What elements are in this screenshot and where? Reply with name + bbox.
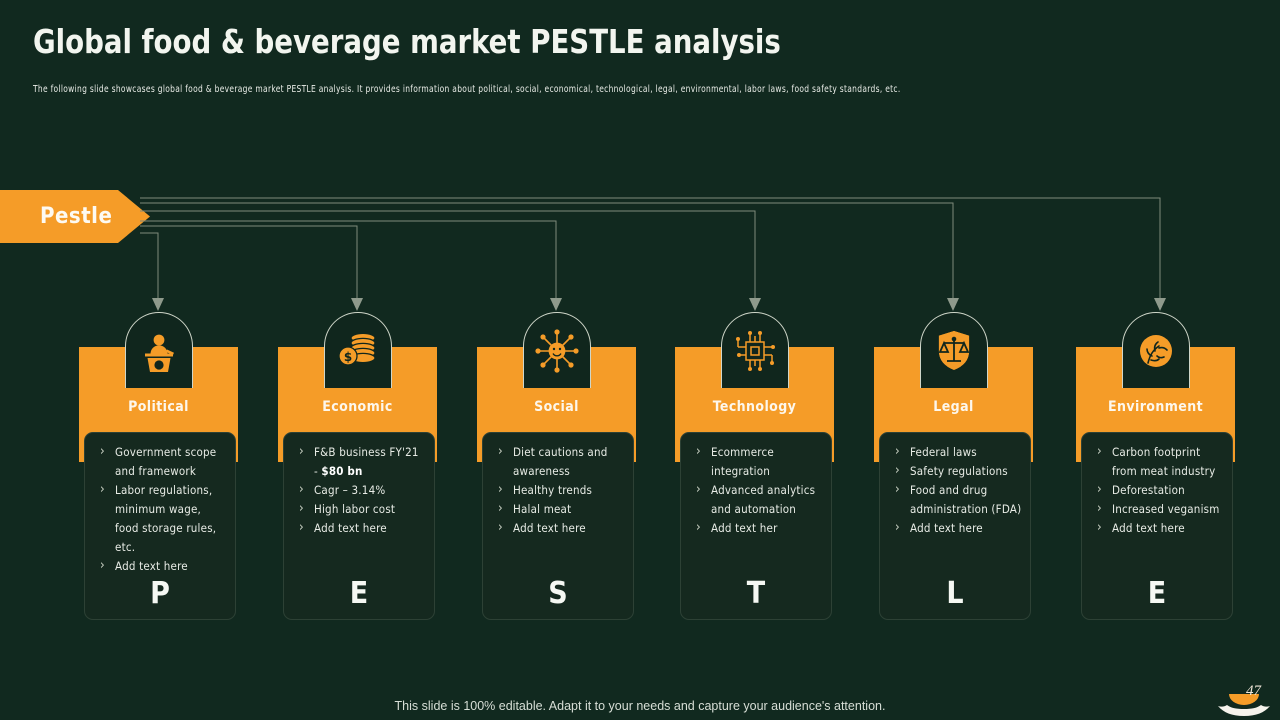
list-item: Ecommerce integration [689, 443, 823, 481]
pestle-columns: Political Government scope and framework… [0, 0, 1280, 720]
column-card: Federal laws Safety regulations Food and… [879, 432, 1031, 620]
list-item: Halal meat [491, 500, 625, 519]
column-letter: T [681, 576, 831, 611]
column-card: Ecommerce integration Advanced analytics… [680, 432, 832, 620]
footer-note: This slide is 100% editable. Adapt it to… [0, 699, 1280, 713]
column-letter: E [1082, 576, 1232, 611]
list-item: Add text here [888, 519, 1022, 538]
list-item: Add text here [93, 557, 227, 576]
slide-canvas: Global food & beverage market PESTLE ana… [0, 0, 1280, 720]
column-label: Social [477, 399, 636, 415]
list-item: Add text here [1090, 519, 1224, 538]
bullet-list: Carbon footprint from meat industry Defo… [1090, 443, 1224, 538]
page-number: 47 [1246, 683, 1261, 700]
column-card: Government scope and framework Labor reg… [84, 432, 236, 620]
social-network-icon [523, 312, 591, 388]
list-item: Cagr – 3.14% [292, 481, 426, 500]
list-item: Food and drug administration (FDA) [888, 481, 1022, 519]
podium-speaker-icon [125, 312, 193, 388]
list-item: Add text here [491, 519, 625, 538]
list-item: Government scope and framework [93, 443, 227, 481]
list-item: Healthy trends [491, 481, 625, 500]
column-card: Carbon footprint from meat industry Defo… [1081, 432, 1233, 620]
bullet-list: Federal laws Safety regulations Food and… [888, 443, 1022, 538]
list-item: Federal laws [888, 443, 1022, 462]
bullet-list: Ecommerce integration Advanced analytics… [689, 443, 823, 538]
scales-shield-icon [920, 312, 988, 388]
column-card: Diet cautions and awareness Healthy tren… [482, 432, 634, 620]
column-letter: S [483, 576, 633, 611]
column-label: Technology [675, 399, 834, 415]
column-label: Political [79, 399, 238, 415]
microchip-icon [721, 312, 789, 388]
list-item: Increased veganism [1090, 500, 1224, 519]
column-letter: E [284, 576, 434, 611]
list-item: Safety regulations [888, 462, 1022, 481]
list-item: High labor cost [292, 500, 426, 519]
list-item: Advanced analytics and automation [689, 481, 823, 519]
bullet-list: Government scope and framework Labor reg… [93, 443, 227, 576]
brand-logo [1213, 680, 1275, 720]
list-item: F&B business FY'21 - $80 bn [292, 443, 426, 481]
column-label: Legal [874, 399, 1033, 415]
column-letter: P [85, 576, 235, 611]
bullet-list: Diet cautions and awareness Healthy tren… [491, 443, 625, 538]
list-item: Labor regulations, minimum wage, food st… [93, 481, 227, 557]
earth-leaf-icon [1122, 312, 1190, 388]
column-label: Environment [1076, 399, 1235, 415]
svg-text:$: $ [343, 350, 351, 364]
list-item: Diet cautions and awareness [491, 443, 625, 481]
bullet-list: F&B business FY'21 - $80 bn Cagr – 3.14%… [292, 443, 426, 538]
list-item: Add text her [689, 519, 823, 538]
coin-stack-icon: $ [324, 312, 392, 388]
column-card: F&B business FY'21 - $80 bn Cagr – 3.14%… [283, 432, 435, 620]
list-item: Add text here [292, 519, 426, 538]
list-item: Carbon footprint from meat industry [1090, 443, 1224, 481]
column-letter: L [880, 576, 1030, 611]
list-item: Deforestation [1090, 481, 1224, 500]
column-label: Economic [278, 399, 437, 415]
